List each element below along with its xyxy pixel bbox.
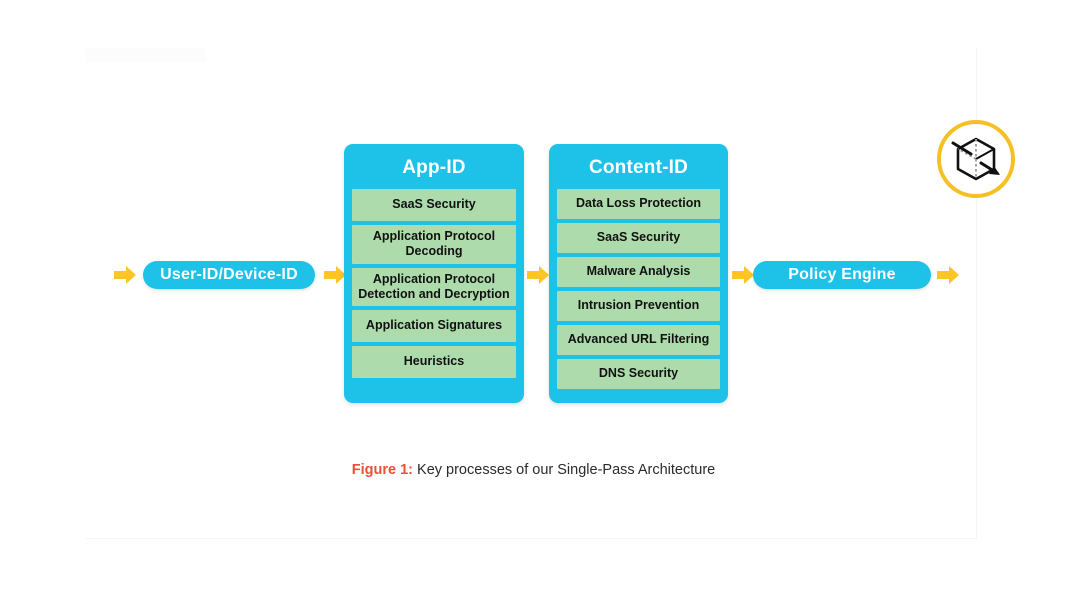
content-id-row[interactable]: Malware Analysis bbox=[557, 257, 720, 287]
content-id-box[interactable]: Content-ID Data Loss Protection SaaS Sec… bbox=[549, 144, 728, 403]
policy-engine-label: Policy Engine bbox=[788, 266, 896, 284]
content-id-row[interactable]: Data Loss Protection bbox=[557, 189, 720, 219]
app-id-title: App-ID bbox=[344, 144, 524, 189]
app-id-row[interactable]: Heuristics bbox=[352, 346, 516, 378]
app-id-row[interactable]: Application Protocol Decoding bbox=[352, 225, 516, 264]
content-id-row[interactable]: Intrusion Prevention bbox=[557, 291, 720, 321]
single-pass-architecture-diagram: User-ID/Device-ID App-ID SaaS Security A… bbox=[0, 0, 1067, 593]
arrow-right-icon bbox=[526, 264, 550, 286]
content-id-row[interactable]: Advanced URL Filtering bbox=[557, 325, 720, 355]
content-id-title: Content-ID bbox=[549, 144, 728, 189]
arrow-right-icon bbox=[731, 264, 755, 286]
content-id-row[interactable]: DNS Security bbox=[557, 359, 720, 389]
cube-with-arrow-icon bbox=[947, 130, 1005, 188]
user-device-id-pill[interactable]: User-ID/Device-ID bbox=[143, 261, 315, 289]
content-id-row[interactable]: SaaS Security bbox=[557, 223, 720, 253]
single-pass-badge bbox=[937, 120, 1015, 198]
app-id-row[interactable]: Application Protocol Detection and Decry… bbox=[352, 268, 516, 307]
arrow-right-icon bbox=[936, 264, 960, 286]
app-id-row-list: SaaS Security Application Protocol Decod… bbox=[344, 189, 524, 386]
content-id-row-list: Data Loss Protection SaaS Security Malwa… bbox=[549, 189, 728, 397]
user-device-id-label: User-ID/Device-ID bbox=[160, 266, 298, 284]
app-id-box[interactable]: App-ID SaaS Security Application Protoco… bbox=[344, 144, 524, 403]
figure-caption-label: Figure 1: bbox=[352, 462, 413, 478]
app-id-row[interactable]: SaaS Security bbox=[352, 189, 516, 221]
figure-caption-text: Key processes of our Single-Pass Archite… bbox=[413, 462, 715, 478]
arrow-right-icon bbox=[113, 264, 137, 286]
figure-caption: Figure 1: Key processes of our Single-Pa… bbox=[0, 462, 1067, 478]
app-id-row[interactable]: Application Signatures bbox=[352, 310, 516, 342]
policy-engine-pill[interactable]: Policy Engine bbox=[753, 261, 931, 289]
page-root: User-ID/Device-ID App-ID SaaS Security A… bbox=[0, 0, 1067, 593]
